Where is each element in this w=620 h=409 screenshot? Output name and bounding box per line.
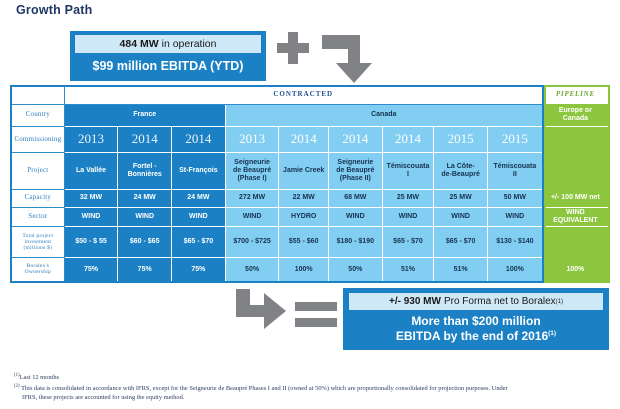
project-line: La Côte- bbox=[447, 163, 475, 170]
cell-investment-5: $180 - $190 bbox=[328, 227, 382, 257]
footnotes: (1)Last 12 months (2) This data is conso… bbox=[14, 372, 608, 403]
cell-ownership-2: 75% bbox=[172, 257, 226, 281]
cell-capacity-8: 50 MW bbox=[487, 189, 542, 207]
row-label-commissioning: Commissioning bbox=[12, 126, 65, 152]
cell-project-3: Seigneurie de Beaupré (Phase I) bbox=[225, 153, 279, 190]
cell-capacity-6: 25 MW bbox=[382, 189, 434, 207]
table-row-project: Project La Vallée Fortel - Bonnières St-… bbox=[12, 153, 609, 190]
slide-canvas: Growth Path 484 MW in operation $99 mill… bbox=[0, 0, 620, 409]
cell-commissioning-5: 2014 bbox=[328, 126, 382, 152]
cell-ownership-4: 100% bbox=[279, 257, 329, 281]
page-title: Growth Path bbox=[16, 3, 93, 17]
cell-capacity-5: 68 MW bbox=[328, 189, 382, 207]
contracted-header: CONTRACTED bbox=[64, 87, 542, 105]
row-label-line: Boralex's bbox=[26, 263, 49, 269]
cell-capacity-4: 22 MW bbox=[279, 189, 329, 207]
cell-capacity-3: 272 MW bbox=[225, 189, 279, 207]
footnote-2-text: This data is consolidated in accordance … bbox=[21, 385, 508, 392]
cell-project-4: Jamie Creek bbox=[279, 153, 329, 190]
bottom-banner-ebitda-block: More than $200 million EBITDA by the end… bbox=[349, 314, 603, 344]
pipeline-country-line2: Canada bbox=[563, 115, 588, 122]
project-line: de-Beaupré bbox=[441, 171, 480, 178]
cell-sector-5: WIND bbox=[328, 207, 382, 227]
plus-icon bbox=[277, 32, 309, 64]
cell-capacity-2: 24 MW bbox=[172, 189, 226, 207]
cell-sector-1: WIND bbox=[118, 207, 172, 227]
project-line: Seigneurie bbox=[234, 159, 270, 166]
cell-sector-0: WIND bbox=[64, 207, 118, 227]
table-row-ownership: Boralex's Ownership 75% 75% 75% 50% 100%… bbox=[12, 257, 609, 281]
row-label-line: Ownership bbox=[25, 269, 51, 275]
bottom-banner-proforma-value: +/- 930 MW bbox=[389, 296, 441, 307]
table-row-capacity: Capacity 32 MW 24 MW 24 MW 272 MW 22 MW … bbox=[12, 189, 609, 207]
pipeline-country-line1: Europe or bbox=[559, 107, 592, 114]
project-line: de Beaupré bbox=[336, 167, 374, 174]
cell-commissioning-6: 2014 bbox=[382, 126, 434, 152]
row-label-line: (millions $) bbox=[23, 245, 52, 251]
row-label-investment: Total project investment (millions $) bbox=[12, 227, 65, 257]
pipeline-sector-line2: EQUIVALENT bbox=[553, 217, 598, 224]
project-line: de Beaupré bbox=[233, 167, 271, 174]
cell-ownership-1: 75% bbox=[118, 257, 172, 281]
top-banner-capacity-line: 484 MW in operation bbox=[75, 35, 261, 53]
footnote-2-text-cont: IFRS, these projects are accounted for u… bbox=[14, 393, 608, 403]
bottom-banner-proforma-line: +/- 930 MW Pro Forma net to Boralex (1) bbox=[349, 293, 603, 310]
bottom-banner-ebitda-line1: More than $200 million bbox=[411, 314, 540, 328]
bottom-banner-proforma-footnote-ref: (1) bbox=[556, 299, 563, 305]
cell-ownership-pipeline: 100% bbox=[542, 257, 608, 281]
top-banner-capacity-label: in operation bbox=[162, 38, 217, 50]
cell-project-pipeline bbox=[542, 153, 608, 190]
table-row-sector: Sector WIND WIND WIND WIND HYDRO WIND WI… bbox=[12, 207, 609, 227]
cell-ownership-0: 75% bbox=[64, 257, 118, 281]
country-group-canada: Canada bbox=[225, 104, 542, 126]
cell-investment-1: $60 - $65 bbox=[118, 227, 172, 257]
cell-commissioning-1: 2014 bbox=[118, 126, 172, 152]
cell-capacity-7: 25 MW bbox=[434, 189, 488, 207]
row-label-country: Country bbox=[12, 104, 65, 126]
cell-sector-pipeline: WIND EQUIVALENT bbox=[542, 207, 608, 227]
cell-project-0: La Vallée bbox=[64, 153, 118, 190]
footnote-2-marker: (2) bbox=[14, 384, 20, 389]
top-banner-capacity-value: 484 MW bbox=[120, 38, 159, 50]
bottom-banner-ebitda-footnote-ref: (1) bbox=[548, 330, 556, 337]
cell-investment-7: $65 - $70 bbox=[434, 227, 488, 257]
cell-investment-pipeline bbox=[542, 227, 608, 257]
cell-investment-0: $50 - $ 55 bbox=[64, 227, 118, 257]
cell-project-6: Témiscouata I bbox=[382, 153, 434, 190]
project-line: I bbox=[407, 171, 409, 178]
cell-investment-4: $55 - $60 bbox=[279, 227, 329, 257]
project-line: Seigneurie bbox=[337, 159, 373, 166]
cell-sector-6: WIND bbox=[382, 207, 434, 227]
cell-sector-7: WIND bbox=[434, 207, 488, 227]
project-line: St-François bbox=[179, 167, 218, 174]
cell-capacity-pipeline: +/- 100 MW net bbox=[542, 189, 608, 207]
footnote-2: (2) This data is consolidated in accorda… bbox=[14, 383, 608, 403]
row-label-project: Project bbox=[12, 153, 65, 190]
cell-sector-4: HYDRO bbox=[279, 207, 329, 227]
cell-sector-3: WIND bbox=[225, 207, 279, 227]
footnote-1-text: Last 12 months bbox=[20, 374, 59, 381]
table-group-header-row: CONTRACTED PIPELINE bbox=[12, 87, 609, 105]
cell-commissioning-2: 2014 bbox=[172, 126, 226, 152]
cell-ownership-6: 51% bbox=[382, 257, 434, 281]
cell-investment-3: $700 - $725 bbox=[225, 227, 279, 257]
cell-project-1: Fortel - Bonnières bbox=[118, 153, 172, 190]
table-row-commissioning: Commissioning 2013 2014 2014 2013 2014 2… bbox=[12, 126, 609, 152]
project-line: Fortel - bbox=[133, 163, 157, 170]
cell-commissioning-4: 2014 bbox=[279, 126, 329, 152]
country-group-pipeline: Europe or Canada bbox=[542, 104, 608, 126]
cell-ownership-5: 50% bbox=[328, 257, 382, 281]
cell-investment-6: $65 - $70 bbox=[382, 227, 434, 257]
project-line: La Vallée bbox=[76, 167, 106, 174]
cell-project-2: St-François bbox=[172, 153, 226, 190]
cell-capacity-1: 24 MW bbox=[118, 189, 172, 207]
cell-commissioning-pipeline bbox=[542, 126, 608, 152]
row-label-sector: Sector bbox=[12, 207, 65, 227]
bottom-banner-proforma-label: Pro Forma net to Boralex bbox=[444, 296, 556, 307]
cell-project-5: Seigneurie de Beaupré (Phase II) bbox=[328, 153, 382, 190]
cell-investment-2: $65 - $70 bbox=[172, 227, 226, 257]
cell-capacity-0: 32 MW bbox=[64, 189, 118, 207]
cell-ownership-3: 50% bbox=[225, 257, 279, 281]
cell-project-7: La Côte- de-Beaupré bbox=[434, 153, 488, 190]
cell-ownership-8: 100% bbox=[487, 257, 542, 281]
project-line: Jamie Creek bbox=[283, 167, 324, 174]
cell-sector-8: WIND bbox=[487, 207, 542, 227]
bottom-banner-ebitda-line2: EBITDA by the end of 2016 bbox=[396, 329, 548, 343]
curved-arrow-down-right-icon bbox=[318, 29, 376, 87]
equals-icon bbox=[295, 302, 337, 328]
project-line: Témiscouata bbox=[493, 163, 536, 170]
pipeline-sector-line1: WIND bbox=[566, 209, 585, 216]
table-row-investment: Total project investment (millions $) $5… bbox=[12, 227, 609, 257]
project-line: (Phase I) bbox=[237, 175, 266, 182]
corner-blank-cell bbox=[12, 87, 65, 105]
footnote-1: (1)Last 12 months bbox=[14, 372, 608, 383]
row-label-capacity: Capacity bbox=[12, 189, 65, 207]
cell-sector-2: WIND bbox=[172, 207, 226, 227]
cell-ownership-7: 51% bbox=[434, 257, 488, 281]
project-line: II bbox=[513, 171, 517, 178]
table-row-country: Country France Canada Europe or Canada bbox=[12, 104, 609, 126]
cell-investment-8: $130 - $140 bbox=[487, 227, 542, 257]
top-summary-banner: 484 MW in operation $99 million EBITDA (… bbox=[70, 31, 266, 81]
top-banner-ebitda-line: $99 million EBITDA (YTD) bbox=[75, 53, 261, 79]
country-group-france: France bbox=[64, 104, 225, 126]
growth-table: CONTRACTED PIPELINE Country France Canad… bbox=[11, 86, 609, 282]
bottom-summary-banner: +/- 930 MW Pro Forma net to Boralex (1) … bbox=[343, 288, 609, 350]
cell-project-8: Témiscouata II bbox=[487, 153, 542, 190]
cell-commissioning-7: 2015 bbox=[434, 126, 488, 152]
cell-commissioning-0: 2013 bbox=[64, 126, 118, 152]
pipeline-header: PIPELINE bbox=[542, 87, 608, 105]
row-label-line: Total project bbox=[22, 233, 53, 239]
project-line: (Phase II) bbox=[340, 175, 371, 182]
cell-commissioning-3: 2013 bbox=[225, 126, 279, 152]
cell-commissioning-8: 2015 bbox=[487, 126, 542, 152]
project-line: Témiscouata bbox=[387, 163, 430, 170]
curved-arrow-right-icon bbox=[232, 287, 290, 335]
row-label-ownership: Boralex's Ownership bbox=[12, 257, 65, 281]
project-line: Bonnières bbox=[128, 171, 162, 178]
